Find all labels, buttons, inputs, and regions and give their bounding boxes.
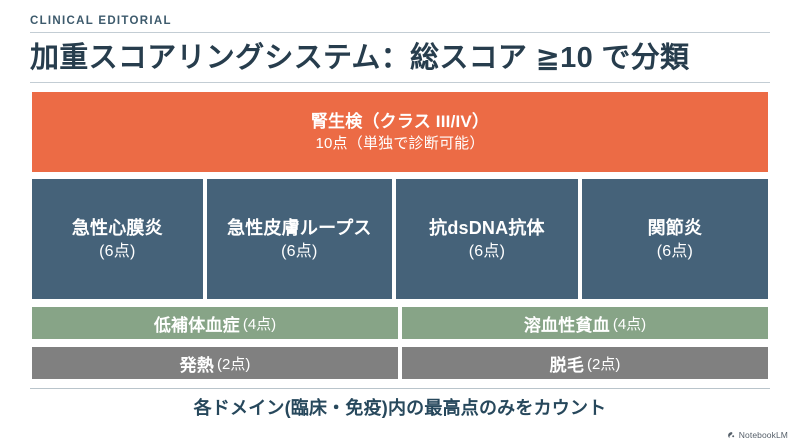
cell-arthritis: 関節炎 (6点) — [580, 177, 770, 301]
notebooklm-badge: NotebookLM — [727, 430, 788, 440]
row-major-criteria: 急性心膜炎 (6点) 急性皮膚ループス (6点) 抗dsDNA抗体 (6点) 関… — [30, 177, 770, 301]
cell-arthritis-points: (6点) — [657, 241, 693, 263]
eyebrow-label: CLINICAL EDITORIAL — [30, 0, 770, 28]
notebooklm-logo-icon — [727, 431, 736, 440]
cell-arthritis-title: 関節炎 — [648, 216, 703, 241]
cell-fever-points: (2点) — [217, 353, 250, 374]
row-biopsy: 腎生検（クラス III/IV） 10点（単独で診断可能） — [30, 90, 770, 174]
cell-renal-biopsy-points: 10点（単独で診断可能） — [315, 133, 484, 154]
cell-anti-dsdna-title: 抗dsDNA抗体 — [429, 216, 545, 241]
notebooklm-badge-label: NotebookLM — [739, 430, 788, 440]
cell-fever: 発熱 (2点) — [30, 345, 400, 381]
cell-fever-title: 発熱 — [180, 351, 214, 376]
cell-acute-pericarditis-points: (6点) — [99, 241, 135, 263]
slide-root: CLINICAL EDITORIAL 加重スコアリングシステム：総スコア ≧10… — [0, 0, 800, 447]
cell-hypocomplementemia-title: 低補体血症 — [154, 311, 240, 336]
cell-acute-cutaneous-lupus-title: 急性皮膚ループス — [227, 216, 372, 241]
cell-hypocomplementemia: 低補体血症 (4点) — [30, 305, 400, 341]
cell-hemolytic-anemia-points: (4点) — [613, 313, 646, 334]
cell-acute-pericarditis: 急性心膜炎 (6点) — [30, 177, 205, 301]
cell-acute-pericarditis-title: 急性心膜炎 — [72, 216, 163, 241]
cell-anti-dsdna-points: (6点) — [469, 241, 505, 263]
cell-renal-biopsy: 腎生検（クラス III/IV） 10点（単独で診断可能） — [30, 90, 770, 174]
cell-renal-biopsy-title: 腎生検（クラス III/IV） — [311, 110, 489, 133]
cell-alopecia: 脱毛 (2点) — [400, 345, 770, 381]
cell-anti-dsdna: 抗dsDNA抗体 (6点) — [394, 177, 580, 301]
header-divider-top — [30, 32, 770, 33]
cell-acute-cutaneous-lupus: 急性皮膚ループス (6点) — [205, 177, 394, 301]
cell-alopecia-points: (2点) — [587, 353, 620, 374]
header-divider-bottom — [30, 82, 770, 83]
row-minor: 発熱 (2点) 脱毛 (2点) — [30, 345, 770, 381]
row-immunology: 低補体血症 (4点) 溶血性貧血 (4点) — [30, 305, 770, 341]
cell-hemolytic-anemia: 溶血性貧血 (4点) — [400, 305, 770, 341]
cell-hemolytic-anemia-title: 溶血性貧血 — [524, 311, 610, 336]
scoring-pyramid: 腎生検（クラス III/IV） 10点（単独で診断可能） 急性心膜炎 (6点) … — [30, 90, 770, 381]
cell-hypocomplementemia-points: (4点) — [243, 313, 276, 334]
cell-alopecia-title: 脱毛 — [550, 351, 584, 376]
footer-note: 各ドメイン(臨床・免疫)内の最高点のみをカウント — [30, 396, 770, 420]
footer-divider — [30, 388, 770, 389]
cell-acute-cutaneous-lupus-points: (6点) — [281, 241, 317, 263]
page-title: 加重スコアリングシステム：総スコア ≧10 で分類 — [30, 39, 770, 77]
